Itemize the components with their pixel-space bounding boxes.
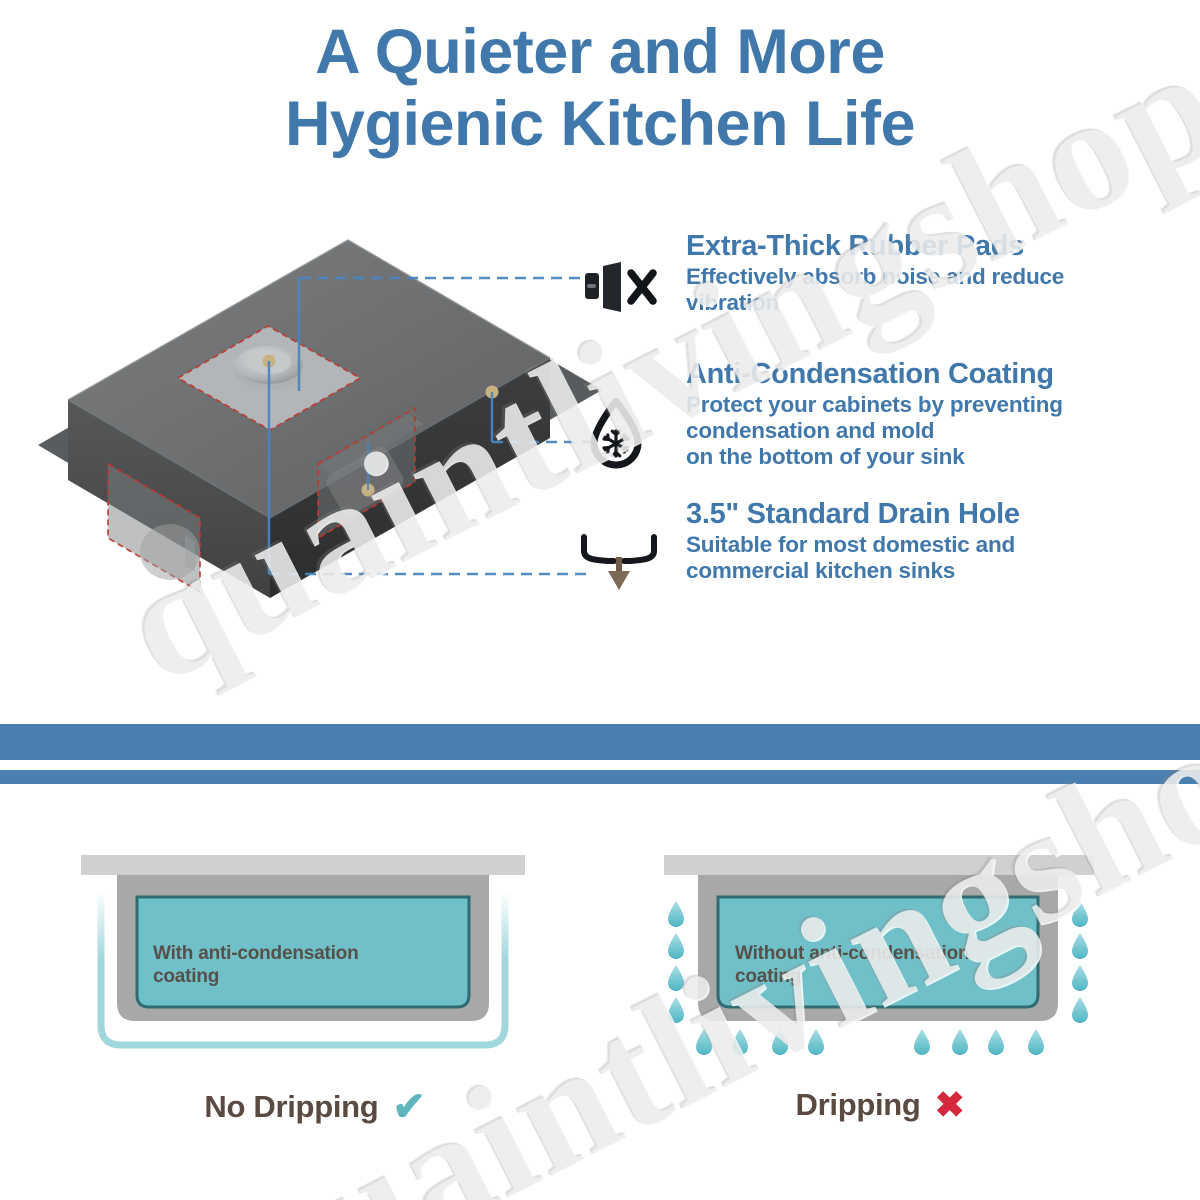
comparison-section: With anti-condensation coating No Drippi… [0,845,1200,1175]
feature-item-drain-hole: 3.5" Standard Drain Hole Suitable for mo… [686,496,1191,584]
title-line-2: Hygienic Kitchen Life [0,88,1200,160]
basin-label-line2: coating [153,965,358,988]
callout-dot-drain [263,355,276,368]
check-icon: ✔ [392,1087,425,1127]
callout-dot-pad-corner [486,386,499,399]
feature-body-line: Suitable for most domestic and [686,532,1191,558]
feature-title: 3.5" Standard Drain Hole [686,496,1191,532]
caption-text: Dripping [796,1087,921,1123]
feature-title: Anti-Condensation Coating [686,356,1191,392]
water-drop-snowflake-icon [588,398,644,472]
page-title: A Quieter and More Hygienic Kitchen Life [0,16,1200,160]
feature-body-line: vibration [686,290,1191,316]
panel-caption-no-dripping: No Dripping ✔ [75,1087,555,1127]
basin-label-line1: Without anti-condensation [735,942,969,965]
title-line-1: A Quieter and More [0,16,1200,88]
basin-label-line1: With anti-condensation [153,942,358,965]
feature-body-line: condensation and mold [686,418,1191,444]
feature-item-rubber-pads: Extra-Thick Rubber Pads Effectively abso… [686,228,1191,316]
feature-body-line: Effectively absorb noise and reduce [686,264,1191,290]
feature-body: Suitable for most domestic and commercia… [686,532,1191,584]
drain-funnel-icon [578,533,660,593]
feature-body-line: commercial kitchen sinks [686,558,1191,584]
basin-label-line2: coating [735,965,969,988]
comparison-panel-with-coating: With anti-condensation coating No Drippi… [75,845,555,1175]
feature-body: Protect your cabinets by preventing cond… [686,392,1191,470]
feature-item-anti-condensation: Anti-Condensation Coating Protect your c… [686,356,1191,470]
cross-icon: ✖ [935,1087,965,1123]
feature-body-line: Protect your cabinets by preventing [686,392,1191,418]
feature-list: Extra-Thick Rubber Pads Effectively abso… [686,228,1191,598]
feature-body-line: on the bottom of your sink [686,444,1191,470]
comparison-panel-without-coating: Without anti-condensation coating Drippi… [640,845,1120,1175]
callout-dot-pad-front [362,484,375,497]
divider-bar-thin [0,770,1200,784]
infographic-page: A Quieter and More Hygienic Kitchen Life [0,0,1200,1200]
muted-speaker-icon [583,256,663,318]
sink-underside-diagram [30,230,610,620]
water-droplet-group-left [668,901,684,1023]
water-droplet-group-bottom [696,1029,1044,1055]
basin-label: With anti-condensation coating [153,942,358,988]
divider-bar-thick [0,724,1200,760]
basin-label: Without anti-condensation coating [735,942,969,988]
caption-text: No Dripping [204,1089,378,1125]
panel-caption-dripping: Dripping ✖ [640,1087,1120,1123]
water-droplet-group-right [1072,901,1088,1023]
feature-body: Effectively absorb noise and reduce vibr… [686,264,1191,316]
feature-title: Extra-Thick Rubber Pads [686,228,1191,264]
